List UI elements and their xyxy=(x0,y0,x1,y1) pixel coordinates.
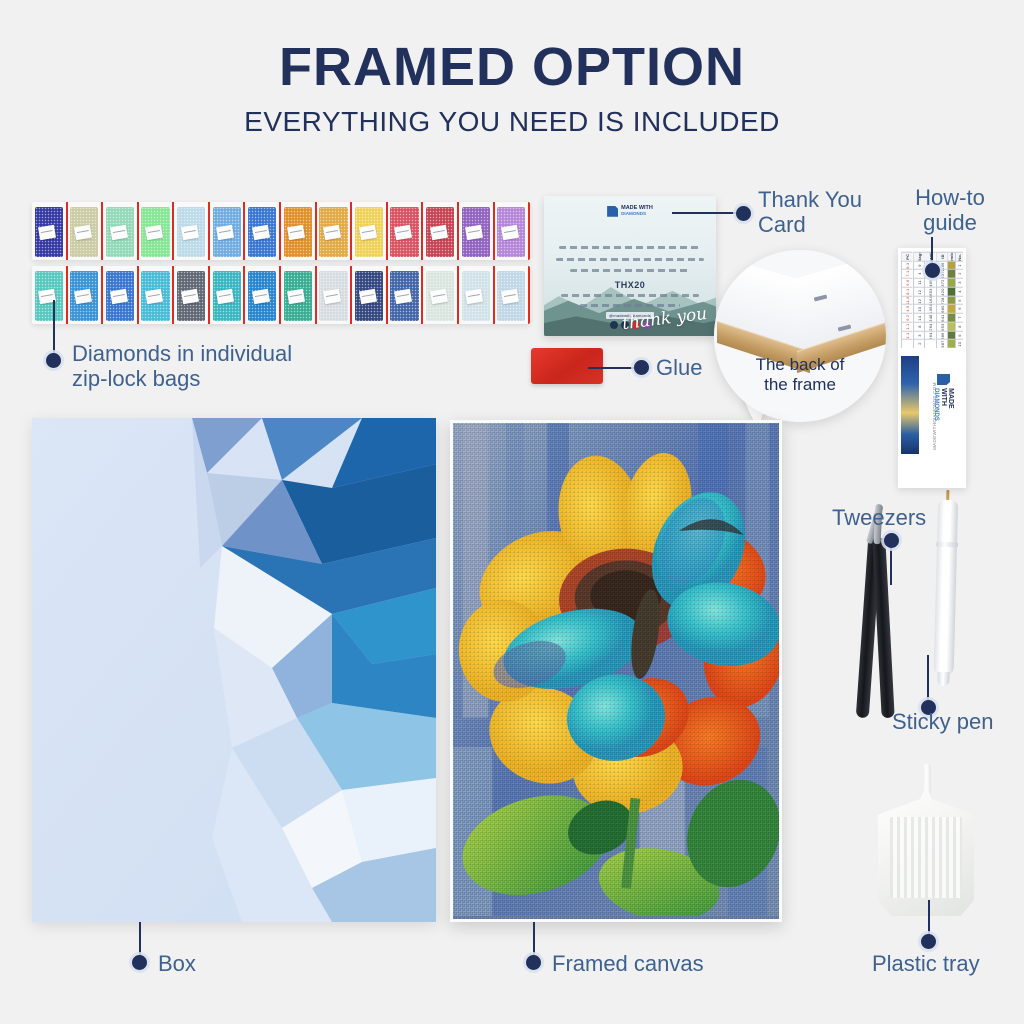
guide-cell: 10 xyxy=(914,304,925,313)
callout-label-sticky-pen: Sticky pen xyxy=(892,710,994,735)
guide-cell: 653 xyxy=(937,322,948,331)
card-message-line xyxy=(580,304,680,307)
callout-label-box: Box xyxy=(158,952,196,977)
canvas-artwork xyxy=(453,423,779,919)
guide-cell xyxy=(948,313,955,322)
diamond-bag xyxy=(32,202,68,260)
guide-brand-line1: MADE WITH xyxy=(940,388,954,409)
callout-label-how-to-guide: How-to guide xyxy=(890,186,1010,235)
guide-cell: 8 xyxy=(914,322,925,331)
guide-header-cell: Bags xyxy=(914,252,925,261)
diamond-bag xyxy=(423,202,459,260)
leader-thank-you-card xyxy=(672,212,744,214)
leader-framed-canvas xyxy=(533,922,535,956)
guide-cell: 6.6 xyxy=(902,278,913,287)
card-discount-code: THX20 xyxy=(544,280,716,290)
diamond-bag xyxy=(352,266,388,324)
leader-box xyxy=(139,922,141,956)
diamond-facet-overlay xyxy=(453,423,779,919)
brand-mark-icon xyxy=(607,206,618,217)
sticky-pen xyxy=(934,490,959,676)
diamond-bag xyxy=(210,202,246,260)
frame-back-bubble: The back of the frame xyxy=(714,250,886,422)
diamond-bag-row-top xyxy=(32,202,530,260)
diamond-bag xyxy=(103,266,139,324)
guide-header-cell: PC xyxy=(902,252,913,261)
glue-square xyxy=(531,348,603,384)
leader-sticky-pen xyxy=(927,655,929,703)
guide-column: No.12345678910 xyxy=(955,252,963,348)
guide-cell: 348 xyxy=(925,313,936,322)
guide-cell: 6.2 xyxy=(902,313,913,322)
guide-cell: 1054 xyxy=(925,304,936,313)
diamond-bag xyxy=(139,202,175,260)
guide-cell: 653 xyxy=(925,287,936,296)
diamond-bag xyxy=(317,202,353,260)
diamond-bag xyxy=(388,266,424,324)
callout-label-glue: Glue xyxy=(656,356,702,381)
leader-plastic-tray xyxy=(928,900,930,936)
callout-label-plastic-tray: Plastic tray xyxy=(872,952,980,977)
guide-cell: 680 xyxy=(937,304,948,313)
guide-cell: 10 xyxy=(956,339,963,348)
page-title: FRAMED OPTION xyxy=(0,36,1024,98)
facebook-icon xyxy=(610,321,618,329)
product-box: MADEWITH DIAMONDS xyxy=(32,418,436,922)
diamond-bag-row-bottom xyxy=(32,266,530,324)
diamond-bag xyxy=(245,202,281,260)
guide-cell: 2 xyxy=(914,339,925,348)
guide-column: Bags941112121014832 xyxy=(913,252,925,348)
pen-nib xyxy=(937,672,949,686)
guide-header-cell: ID xyxy=(937,252,948,261)
frame-back-photo xyxy=(714,250,886,422)
guide-cell: 264 xyxy=(925,322,936,331)
guide-cell: 8 xyxy=(956,322,963,331)
leader-diamonds xyxy=(53,300,55,354)
callout-dot-thank-you-card[interactable] xyxy=(736,206,751,221)
guide-cell: 8.1 xyxy=(902,287,913,296)
pen-grip xyxy=(936,542,958,548)
guide-cell xyxy=(948,269,955,278)
callout-dot-diamonds[interactable] xyxy=(46,353,61,368)
diamond-bag xyxy=(459,266,495,324)
diamond-bag xyxy=(174,202,210,260)
callout-dot-plastic-tray[interactable] xyxy=(921,934,936,949)
diamond-bag xyxy=(423,266,459,324)
guide-cell: 7 xyxy=(956,313,963,322)
guide-cell: 4.9 xyxy=(902,304,913,313)
guide-cell: 4 xyxy=(914,269,925,278)
callout-dot-box[interactable] xyxy=(132,955,147,970)
diamond-bag xyxy=(68,202,104,260)
guide-cell xyxy=(902,339,913,348)
pen-body xyxy=(934,500,959,676)
tray-ribs xyxy=(890,817,963,898)
guide-cell xyxy=(948,322,955,331)
guide-cell: 12 xyxy=(914,287,925,296)
guide-cell: 6 xyxy=(956,304,963,313)
card-message-line xyxy=(561,294,699,297)
card-message-line xyxy=(559,246,700,249)
card-brand-line2: DIAMONDS xyxy=(621,212,653,217)
card-message-line xyxy=(570,269,690,272)
guide-cell: 1.1 xyxy=(902,322,913,331)
diamond-bag xyxy=(245,266,281,324)
guide-cell: 420 xyxy=(937,287,948,296)
guide-column: Symbol xyxy=(947,252,955,348)
guide-cell: 3 xyxy=(956,278,963,287)
callout-label-framed-canvas: Framed canvas xyxy=(552,952,704,977)
diamond-bag xyxy=(459,202,495,260)
how-to-guide: PC8.37.16.68.111.94.96.21.11.1Bags941112… xyxy=(898,248,966,488)
guide-cell xyxy=(948,278,955,287)
card-brand-text: MADE WITH DIAMONDS xyxy=(621,206,653,217)
guide-cell: 4 xyxy=(956,287,963,296)
guide-cell xyxy=(948,339,955,348)
diamond-bag xyxy=(174,266,210,324)
guide-cell: 7.1 xyxy=(902,269,913,278)
guide-column: PC8.37.16.68.111.94.96.21.11.1 xyxy=(901,252,913,348)
diamond-bag xyxy=(352,202,388,260)
guide-header-cell: Symbol xyxy=(948,252,955,261)
guide-cell: 14 xyxy=(914,313,925,322)
diamond-bag xyxy=(495,202,530,260)
guide-cell: 2 xyxy=(956,269,963,278)
plastic-tray xyxy=(878,786,974,916)
leader-tweezers xyxy=(890,545,892,585)
guide-cell: 499 xyxy=(925,278,936,287)
diamond-bag xyxy=(139,266,175,324)
box-polygon-pattern xyxy=(32,418,436,922)
guide-cell: 641 xyxy=(937,313,948,322)
callout-dot-tweezers[interactable] xyxy=(884,533,899,548)
card-message-line xyxy=(556,258,704,261)
guide-cell xyxy=(948,304,955,313)
brand-mark-icon xyxy=(937,374,950,385)
framed-canvas xyxy=(450,420,782,922)
thank-you-card: MADE WITH DIAMONDS THX20 @madewithdiamon… xyxy=(544,196,716,336)
guide-cell: 987 xyxy=(937,339,948,348)
callout-dot-how-to-guide[interactable] xyxy=(925,263,940,278)
guide-caption: MADEWITHDIAMONDS.COM xyxy=(932,376,937,450)
diamond-bag xyxy=(281,202,317,260)
diamond-bag xyxy=(495,266,530,324)
diamond-bag xyxy=(210,266,246,324)
guide-cell: 11 xyxy=(914,278,925,287)
diamond-bag xyxy=(281,266,317,324)
diamond-bag xyxy=(317,266,353,324)
diamond-bag xyxy=(103,202,139,260)
callout-dot-framed-canvas[interactable] xyxy=(526,955,541,970)
guide-header-cell: No. xyxy=(956,252,963,261)
guide-preview-image xyxy=(901,356,919,454)
page-subtitle: EVERYTHING YOU NEED IS INCLUDED xyxy=(0,106,1024,138)
diamond-bag xyxy=(388,202,424,260)
bubble-caption: The back of the frame xyxy=(714,355,886,396)
diamond-bag xyxy=(68,266,104,324)
callout-label-tweezers: Tweezers xyxy=(832,506,926,531)
guide-cell xyxy=(925,339,936,348)
callout-label-diamonds: Diamonds in individual zip-lock bags xyxy=(72,342,372,391)
guide-cell xyxy=(948,287,955,296)
infographic-canvas: FRAMED OPTION EVERYTHING YOU NEED IS INC… xyxy=(0,0,1024,1024)
guide-cell: 372 xyxy=(937,278,948,287)
diamond-bag xyxy=(32,266,68,324)
callout-dot-glue[interactable] xyxy=(634,360,649,375)
leader-glue xyxy=(588,367,640,369)
